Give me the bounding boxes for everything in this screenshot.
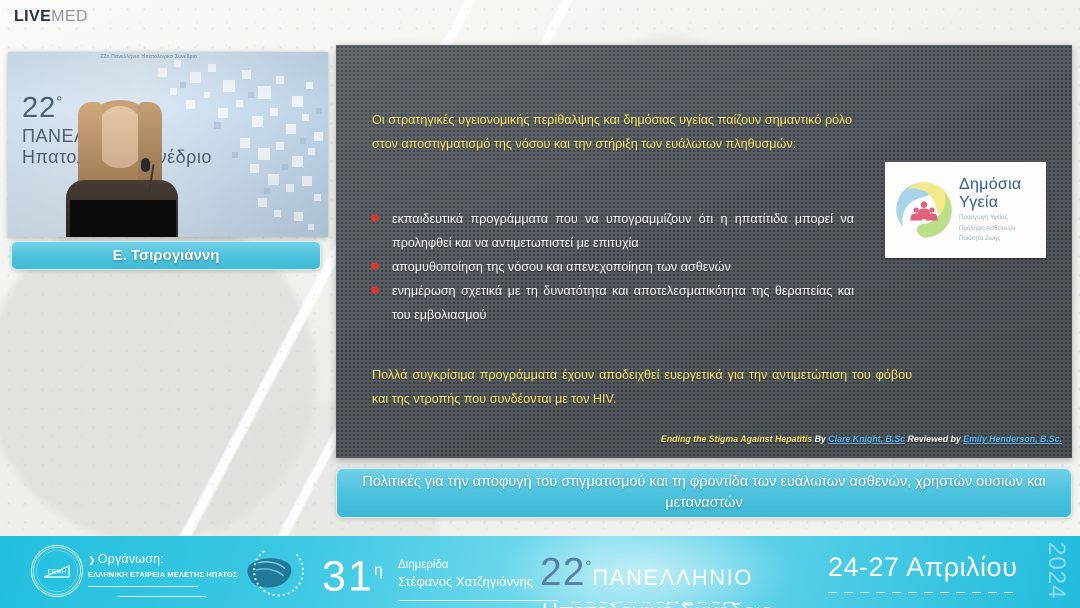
session-title-bar: Πολιτικές για την αποφυγή του στιγματισμ… xyxy=(336,468,1072,518)
edition-rule xyxy=(398,600,558,601)
svg-text:ΕΕΜΗ: ΕΕΜΗ xyxy=(48,569,67,576)
citation-title: Ending the Stigma Against Hepatitis xyxy=(661,434,812,444)
logo-title-line1: Δημόσια xyxy=(959,176,1021,194)
citation-reviewed-label: Reviewed by xyxy=(907,434,960,444)
list-item: ενημέρωση σχετικά με τη δυνατότητα και α… xyxy=(368,279,854,327)
congress-rule xyxy=(572,602,742,603)
dates-rule xyxy=(828,592,1018,593)
slide-closing-paragraph: Πολλά συγκρίσιμα προγράμματα έχουν αποδε… xyxy=(372,363,912,411)
public-health-logo-text: Δημόσια Υγεία Προαγωγή Υγείας Πρόληψη Ασ… xyxy=(959,176,1021,243)
logo-sub-line3: Ποιότητα Ζωής xyxy=(959,235,1021,243)
edition-title: Διημερίδα Στέφανος Χατζηγιάννης xyxy=(398,558,533,590)
brand-live: LIVE xyxy=(14,8,51,25)
list-item: εκπαιδευτικά προγράμματα που να υπογραμμ… xyxy=(368,207,854,255)
congress-number: 22 xyxy=(540,551,585,594)
organizer-label: Οργάνωση: xyxy=(98,552,164,566)
chevron-right-icon: ❯ xyxy=(88,555,96,565)
edition-number-suffix: η xyxy=(374,562,385,579)
congress-banner: ΕΕΜΗ ❯Οργάνωση: ΕΛΛΗΝΙΚΗ ΕΤΑΙΡΕΙΑ ΜΕΛΕΤΗ… xyxy=(0,536,1080,608)
organizer-rule-2 xyxy=(118,596,206,597)
session-title: Πολιτικές για την αποφυγή του στιγματισμ… xyxy=(349,472,1059,514)
congress-dates: 24-27 Απριλίου xyxy=(828,552,1017,583)
edition-number-value: 31 xyxy=(322,552,374,600)
congress-year: 2024 xyxy=(1042,542,1070,599)
eemh-society-logo: ΕΕΜΗ xyxy=(31,545,83,597)
congress-line2: Ηπατολογικό Συνέδριο xyxy=(542,599,774,608)
list-item: απομυθοποίηση της νόσου και απενεχοποίησ… xyxy=(368,255,854,279)
congress-title: 22°ΠΑΝΕΛΛΗΝΙΟ Ηπατολογικό Συνέδριο xyxy=(540,546,774,608)
speaker-name: Ε. Τσιρογιάννη xyxy=(113,247,220,264)
slide-bullet-list: εκπαιδευτικά προγράμματα που να υπογραμμ… xyxy=(368,207,854,327)
public-health-logo-card: Δημόσια Υγεία Προαγωγή Υγείας Πρόληψη Ασ… xyxy=(885,162,1046,258)
organizer-block: ❯Οργάνωση: ΕΛΛΗΝΙΚΗ ΕΤΑΙΡΕΙΑ ΜΕΛΕΤΗΣ ΗΠΑ… xyxy=(88,552,237,579)
edition-line2: Στέφανος Χατζηγιάννης xyxy=(398,573,533,590)
congress-word: ΠΑΝΕΛΛΗΝΙΟ xyxy=(592,565,753,590)
citation-by-label: By xyxy=(815,434,826,444)
slide-citation: Ending the Stigma Against Hepatitis By C… xyxy=(661,434,1062,444)
video-vignette xyxy=(8,52,328,237)
speaker-video[interactable]: 22ο Πανελλήνιο Ηπατολογικό Συνέδριο 22° … xyxy=(8,52,328,237)
livemed-logo: LIVEMED xyxy=(14,8,88,26)
public-health-swirl-icon xyxy=(891,177,957,243)
edition-number: 31η xyxy=(322,548,385,599)
organizer-rule-1 xyxy=(88,586,198,587)
logo-sub-line2: Πρόληψη Ασθενειών xyxy=(959,225,1021,233)
edition-line1: Διημερίδα xyxy=(398,558,533,573)
slide-intro-paragraph: Οι στρατηγικές υγειονομικής περίθαλψης κ… xyxy=(372,108,852,156)
organizer-name: ΕΛΛΗΝΙΚΗ ΕΤΑΙΡΕΙΑ ΜΕΛΕΤΗΣ ΗΠΑΤΟΣ xyxy=(88,570,237,579)
liver-icon xyxy=(236,544,308,602)
citation-author-link[interactable]: Clare Knight, B.Sc xyxy=(828,434,905,444)
presentation-slide[interactable]: Οι στρατηγικές υγειονομικής περίθαλψης κ… xyxy=(336,45,1072,458)
logo-sub-line1: Προαγωγή Υγείας xyxy=(959,214,1021,222)
citation-reviewer-link[interactable]: Emily Henderson, B.Sc. xyxy=(963,434,1062,444)
speaker-name-bar: Ε. Τσιρογιάννη xyxy=(11,241,321,270)
logo-title-line2: Υγεία xyxy=(959,194,1021,212)
brand-med: MED xyxy=(51,8,88,25)
